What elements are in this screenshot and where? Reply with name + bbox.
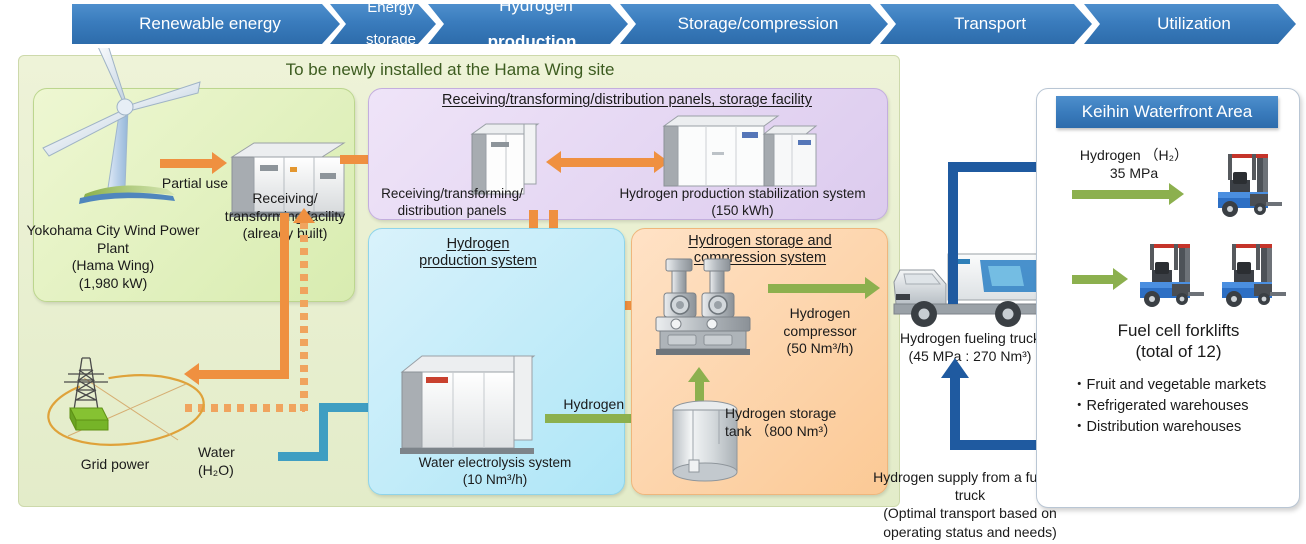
keihin-supply-arrow-shaft-bottom (1072, 275, 1116, 284)
facility-line1: Receiving/ (215, 190, 355, 208)
blue-loop-left-vertical (948, 162, 958, 304)
cyan-panel-title: Hydrogen production system (378, 236, 578, 271)
hydrogen-compressor-icon (650, 255, 760, 365)
tank-caption: Hydrogen storage tank （800 Nm³） (725, 405, 890, 440)
blue-loop-arrow-head (941, 358, 969, 378)
compressor-to-truck-arrow-shaft (768, 284, 868, 293)
partial-use-arrow-head (212, 152, 227, 174)
stabilization-line2: (150 kWh) (600, 203, 885, 220)
supply-line1: Hydrogen （H₂） (1064, 146, 1204, 164)
purple-panel-title: Receiving/transforming/distribution pane… (372, 92, 882, 109)
water-line2: (H₂O) (198, 461, 278, 479)
partial-use-arrow-shaft (160, 159, 214, 168)
compressor-line3: (50 Nm³/h) (760, 340, 880, 358)
list-item: ・Refrigerated warehouses (1072, 396, 1294, 417)
cyan-title-line1: Hydrogen (378, 236, 578, 253)
supply-line2: 35 MPa (1064, 164, 1204, 182)
grid-power-label: Grid power (55, 455, 175, 473)
distribution-panel-caption: Receiving/transforming/ distribution pan… (372, 186, 532, 220)
facility-return-arrow-head (293, 208, 315, 223)
banner-step-label-line1: Energy (352, 0, 422, 16)
tank-to-compressor-arrow-head (688, 367, 710, 382)
keihin-supply-label: Hydrogen （H₂） 35 MPa (1064, 146, 1204, 182)
banner-step-label: Transport (940, 15, 1032, 33)
panels-stabilization-arrow-shaft (560, 158, 658, 167)
plant-line4: (1,980 kW) (8, 275, 218, 293)
stabilization-line1: Hydrogen production stabilization system (600, 186, 885, 203)
water-line1: Water (198, 443, 278, 461)
compressor-line1: Hydrogen (760, 305, 880, 323)
plant-line3: (Hama Wing) (8, 257, 218, 275)
hydrogen-stabilization-system-icon (660, 112, 820, 192)
list-item: ・Distribution warehouses (1072, 417, 1294, 438)
fuel-cell-forklift-icon (1208, 150, 1286, 220)
keihin-supply-arrow-shaft-top (1072, 190, 1172, 199)
water-label: Water (H₂O) (198, 443, 278, 479)
water-electrolysis-system-icon (396, 350, 538, 462)
banner-step-renewable-energy[interactable]: Renewable energy (72, 4, 340, 44)
keihin-supply-arrow-head-bottom (1113, 268, 1128, 290)
wind-turbine-icon (25, 48, 215, 238)
facility-return-dashed-vertical (300, 222, 308, 412)
electrolysis-line1: Water electrolysis system (375, 455, 615, 472)
grid-to-facility-solid-shaft (280, 213, 289, 378)
fuel-cell-forklift-icon (1212, 240, 1290, 310)
wind-plant-caption: Yokohama City Wind Power Plant (Hama Win… (8, 222, 218, 292)
grid-power-icon (38, 348, 213, 458)
stabilization-caption: Hydrogen production stabilization system… (600, 186, 885, 220)
forklift-caption: Fuel cell forklifts (total of 12) (1066, 320, 1291, 363)
note-line4: operating status and needs) (855, 523, 1085, 541)
forklift-line2: (total of 12) (1066, 341, 1291, 362)
compressor-line2: compressor (760, 323, 880, 341)
banner-step-label: Utilization (1143, 15, 1237, 33)
panels-line1: Receiving/transforming/ (372, 186, 532, 203)
banner-step-hydrogen-production[interactable]: Hydrogen production (428, 4, 628, 44)
banner-step-label: Renewable energy (125, 15, 287, 33)
compressor-to-truck-arrow-head (865, 277, 880, 299)
banner-step-storage-compression[interactable]: Storage/compression (620, 4, 888, 44)
plant-line1: Yokohama City Wind Power (8, 222, 218, 240)
banner-step-label-line2: production (488, 32, 577, 51)
keihin-waterfront-header: Keihin Waterfront Area (1056, 96, 1278, 128)
banner-step-energy-storage[interactable]: Energy storage (330, 4, 436, 44)
banner-step-transport[interactable]: Transport (880, 4, 1092, 44)
process-stage-banner: Renewable energy Energy storage Hydrogen… (0, 0, 1306, 48)
hydrogen-fueling-truck-icon (888, 248, 1060, 332)
plant-line2: Plant (8, 240, 218, 258)
orange-title-line1: Hydrogen storage and (636, 233, 884, 250)
keihin-supply-arrow-head-top (1169, 183, 1184, 205)
blue-loop-return-vertical (950, 378, 960, 450)
fuel-cell-forklift-icon (1130, 240, 1208, 310)
tank-line2: tank （800 Nm³） (725, 423, 890, 441)
tank-line1: Hydrogen storage (725, 405, 890, 423)
banner-step-label-line2: storage (352, 32, 422, 48)
banner-step-label-line1: Hydrogen (485, 0, 579, 15)
banner-step-utilization[interactable]: Utilization (1084, 4, 1296, 44)
list-item: ・Fruit and vegetable markets (1072, 375, 1294, 396)
electrolysis-caption: Water electrolysis system (10 Nm³/h) (375, 455, 615, 489)
cyan-title-line2: production system (378, 253, 578, 270)
electrolysis-line2: (10 Nm³/h) (375, 472, 615, 489)
forklift-line1: Fuel cell forklifts (1066, 320, 1291, 341)
keihin-bullet-list: ・Fruit and vegetable markets ・Refrigerat… (1072, 375, 1294, 438)
compressor-caption: Hydrogen compressor (50 Nm³/h) (760, 305, 880, 358)
panels-stabilization-arrow-head-left (546, 151, 561, 173)
banner-step-label: Storage/compression (664, 15, 845, 33)
panels-line2: distribution panels (372, 203, 532, 220)
